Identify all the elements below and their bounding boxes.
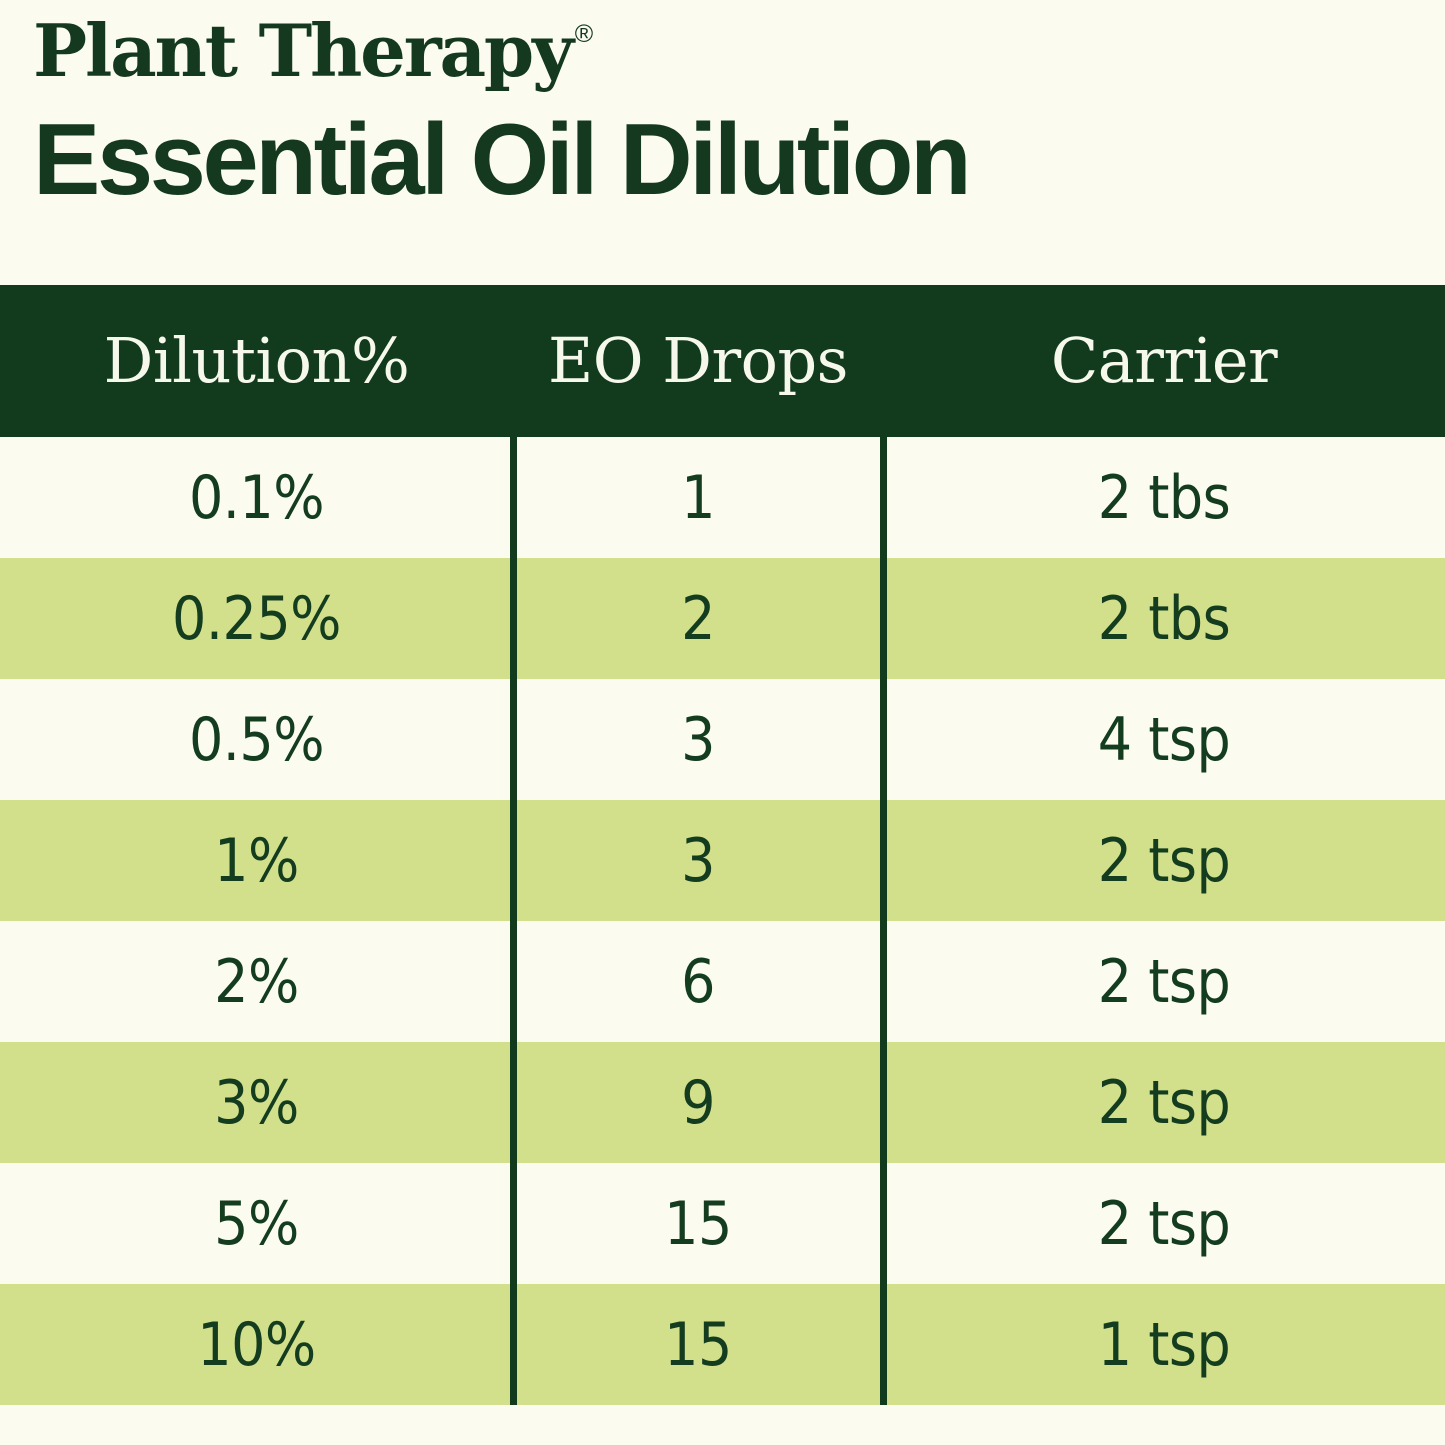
- cell-carrier: 2 tsp: [883, 952, 1445, 1012]
- cell-eo-drops: 6: [513, 952, 883, 1012]
- dilution-chart-page: Plant Therapy ® Essential Oil Dilution D…: [0, 0, 1445, 1445]
- table-header-row: Dilution% EO Drops Carrier: [0, 285, 1445, 437]
- table-row: 0.5% 3 4 tsp: [0, 679, 1445, 800]
- cell-carrier: 2 tsp: [883, 1194, 1445, 1254]
- cell-carrier: 2 tsp: [883, 1073, 1445, 1133]
- registered-trademark-icon: ®: [575, 22, 593, 47]
- cell-eo-drops: 9: [513, 1073, 883, 1133]
- table-row: 2% 6 2 tsp: [0, 921, 1445, 1042]
- cell-carrier: 4 tsp: [883, 710, 1445, 770]
- cell-dilution: 3%: [0, 1073, 513, 1133]
- page-title: Essential Oil Dilution: [33, 107, 1413, 214]
- brand-lockup: Plant Therapy ®: [33, 14, 1413, 87]
- cell-carrier: 2 tbs: [883, 468, 1445, 528]
- cell-eo-drops: 3: [513, 831, 883, 891]
- cell-dilution: 1%: [0, 831, 513, 891]
- dilution-table: Dilution% EO Drops Carrier 0.1% 1 2 tbs …: [0, 285, 1445, 1405]
- cell-carrier: 2 tbs: [883, 589, 1445, 649]
- cell-eo-drops: 2: [513, 589, 883, 649]
- cell-eo-drops: 15: [513, 1194, 883, 1254]
- cell-dilution: 0.25%: [0, 589, 513, 649]
- table-row: 5% 15 2 tsp: [0, 1163, 1445, 1284]
- table-row: 0.25% 2 2 tbs: [0, 558, 1445, 679]
- cell-dilution: 0.5%: [0, 710, 513, 770]
- cell-dilution: 10%: [0, 1315, 513, 1375]
- table-row: 0.1% 1 2 tbs: [0, 437, 1445, 558]
- cell-eo-drops: 3: [513, 710, 883, 770]
- cell-dilution: 2%: [0, 952, 513, 1012]
- table-row: 1% 3 2 tsp: [0, 800, 1445, 921]
- branding-block: Plant Therapy ® Essential Oil Dilution: [33, 14, 1413, 214]
- cell-carrier: 1 tsp: [883, 1315, 1445, 1375]
- cell-dilution: 0.1%: [0, 468, 513, 528]
- table-row: 3% 9 2 tsp: [0, 1042, 1445, 1163]
- column-header-carrier: Carrier: [883, 330, 1445, 392]
- table-row: 10% 15 1 tsp: [0, 1284, 1445, 1405]
- brand-name: Plant Therapy: [33, 14, 572, 87]
- column-header-eo-drops: EO Drops: [513, 330, 883, 392]
- column-header-dilution: Dilution%: [0, 330, 513, 392]
- cell-dilution: 5%: [0, 1194, 513, 1254]
- cell-eo-drops: 1: [513, 468, 883, 528]
- cell-carrier: 2 tsp: [883, 831, 1445, 891]
- cell-eo-drops: 15: [513, 1315, 883, 1375]
